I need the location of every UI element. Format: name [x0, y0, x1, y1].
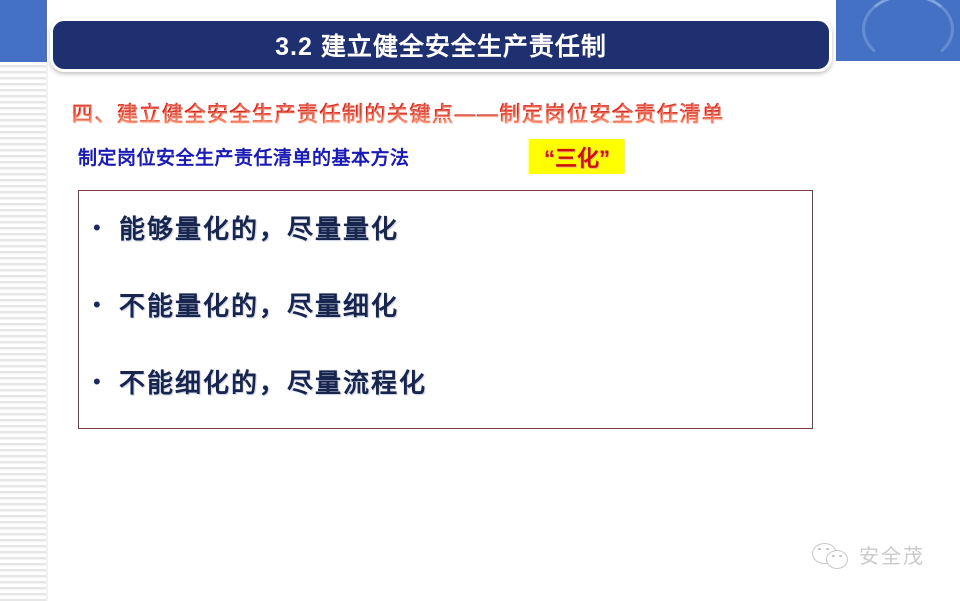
bullet-marker-icon: • — [93, 371, 119, 393]
decorative-stripes-edge — [46, 62, 48, 601]
highlight-badge-label: “三化” — [544, 141, 610, 173]
decorative-block-top-left — [0, 0, 47, 62]
list-item: • 能够量化的，尽量量化 — [93, 209, 399, 246]
section-heading-red: 四、建立健全安全生产责任制的关键点——制定岗位安全责任清单 — [72, 98, 725, 128]
slide-title-bar: 3.2 建立健全安全生产责任制 — [50, 18, 832, 72]
decorative-block-top-right — [836, 0, 960, 61]
slide-canvas: 3.2 建立健全安全生产责任制 四、建立健全安全生产责任制的关键点——制定岗位安… — [0, 0, 960, 601]
list-item: • 不能细化的，尽量流程化 — [93, 363, 427, 400]
bullet-marker-icon: • — [93, 217, 119, 239]
watermark-label: 安全茂 — [859, 540, 925, 569]
watermark: 安全茂 — [812, 540, 925, 569]
list-item: • 不能量化的，尽量细化 — [93, 286, 399, 323]
wechat-dot — [818, 548, 821, 551]
wechat-bubble-small — [826, 550, 848, 569]
list-item-label: 不能量化的，尽量细化 — [119, 286, 399, 323]
decorative-stripes-left — [0, 62, 47, 601]
wechat-icon — [812, 541, 850, 569]
bullet-marker-icon: • — [93, 294, 119, 316]
section-subheading-blue: 制定岗位安全生产责任清单的基本方法 — [78, 143, 410, 170]
wechat-dot — [832, 555, 835, 558]
wechat-dot — [839, 555, 842, 558]
content-box: • 能够量化的，尽量量化 • 不能量化的，尽量细化 • 不能细化的，尽量流程化 — [78, 190, 813, 429]
page-title: 3.2 建立健全安全生产责任制 — [275, 27, 607, 63]
list-item-label: 能够量化的，尽量量化 — [119, 209, 399, 246]
list-item-label: 不能细化的，尽量流程化 — [119, 363, 427, 400]
highlight-badge: “三化” — [529, 139, 625, 174]
wechat-dot — [826, 548, 829, 551]
